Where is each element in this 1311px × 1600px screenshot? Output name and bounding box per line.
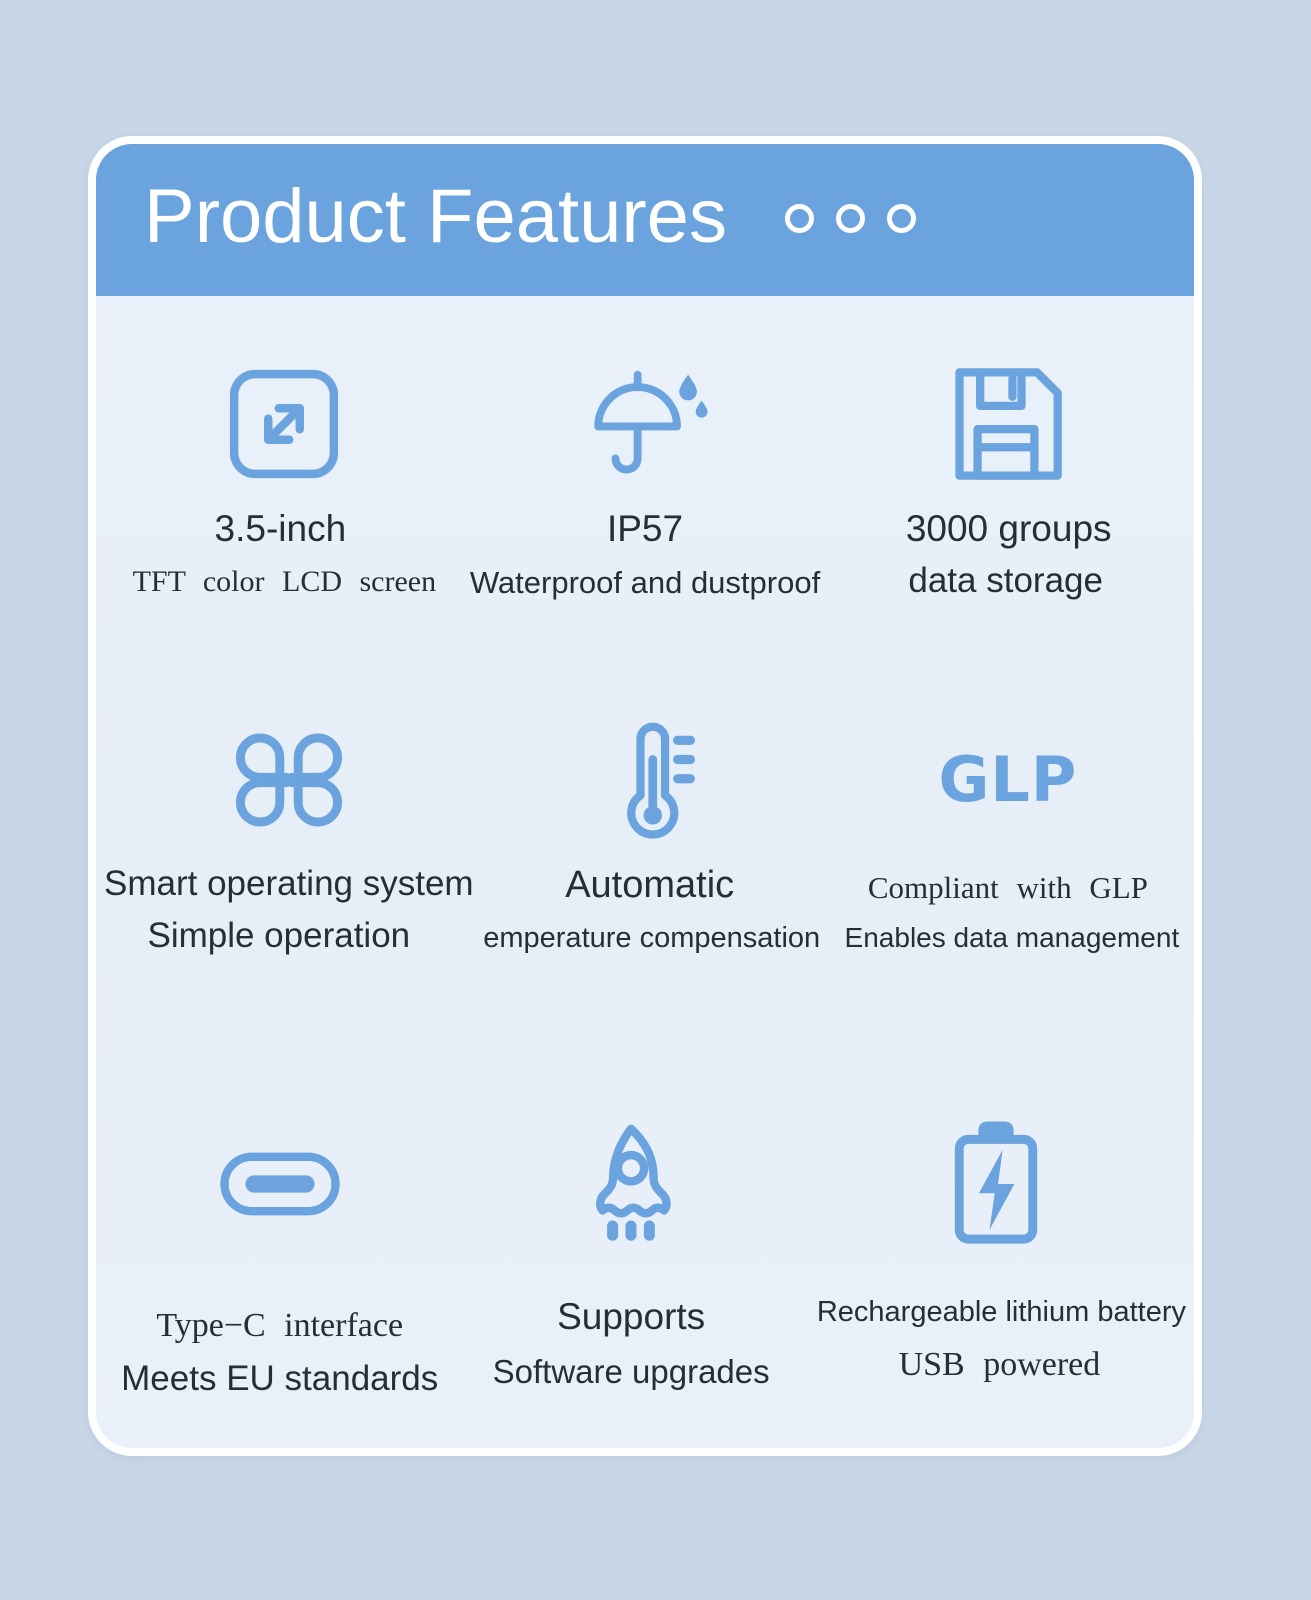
feature-line2: Enables data management <box>845 922 1180 954</box>
feature-line1: IP57 <box>607 508 683 551</box>
feature-line2: Waterproof and dustproof <box>470 565 820 601</box>
feature-line2: emperature compensation <box>483 922 820 955</box>
feature-line2: Meets EU standards <box>121 1359 438 1399</box>
feature-line2: Software upgrades <box>493 1353 770 1391</box>
page-root: Product Features <box>0 0 1311 1600</box>
page-title: Product Features <box>144 179 727 255</box>
feature-line2: USB powered <box>899 1345 1101 1384</box>
features-grid: 3.5-inch TFT color LCD screen <box>96 296 1194 1440</box>
umbrella-rain-icon <box>581 356 709 492</box>
feature-line2: TFT color LCD screen <box>133 565 437 600</box>
feature-row: 3.5-inch TFT color LCD screen <box>104 332 1186 680</box>
feature-item-screen: 3.5-inch TFT color LCD screen <box>104 332 465 599</box>
feature-line1: Supports <box>557 1296 705 1339</box>
feature-item-temp: Automatic emperature compensation <box>474 688 830 955</box>
feature-row: Smart operating system Simple operation <box>104 688 1186 1036</box>
feature-line1: Compliant with GLP <box>868 870 1148 906</box>
feature-line1: Rechargeable lithium battery <box>817 1296 1186 1329</box>
feature-item-glp: GLP Compliant with GLP Enables data mana… <box>830 688 1186 954</box>
resize-expand-icon <box>221 356 347 492</box>
feature-row: Type−C interface Meets EU standards Su <box>104 1092 1186 1440</box>
glp-label: GLP <box>938 749 1077 811</box>
battery-charging-icon <box>946 1116 1046 1252</box>
thermometer-icon <box>600 712 704 848</box>
feature-item-typec: Type−C interface Meets EU standards <box>104 1092 455 1399</box>
feature-item-os: Smart operating system Simple operation <box>104 688 474 957</box>
glp-text-icon: GLP <box>938 712 1077 848</box>
circle-2-icon <box>836 204 865 233</box>
feature-line2: data storage <box>908 561 1103 601</box>
feature-item-upgrades: Supports Software upgrades <box>455 1092 806 1390</box>
feature-item-battery: Rechargeable lithium battery USB powered <box>807 1092 1186 1384</box>
feature-line2: Simple operation <box>147 916 410 956</box>
feature-line1: Type−C interface <box>156 1306 403 1345</box>
feature-line1: Smart operating system <box>104 864 474 904</box>
feature-line1: Automatic <box>565 864 734 908</box>
feature-item-storage: 3000 groups data storage <box>825 332 1186 601</box>
floppy-disk-save-icon <box>946 356 1066 492</box>
rocket-icon <box>570 1116 692 1252</box>
circle-3-icon <box>887 204 916 233</box>
feature-item-waterproof: IP57 Waterproof and dustproof <box>465 332 826 600</box>
feature-line1: 3.5-inch <box>215 508 347 551</box>
card-header: Product Features <box>96 144 1194 296</box>
circle-1-icon <box>785 204 814 233</box>
feature-line1: 3000 groups <box>906 508 1112 551</box>
product-features-card: Product Features <box>88 136 1202 1456</box>
header-dots-group <box>785 204 916 233</box>
usb-type-c-port-icon <box>217 1116 343 1252</box>
four-petal-clover-icon <box>226 712 352 848</box>
